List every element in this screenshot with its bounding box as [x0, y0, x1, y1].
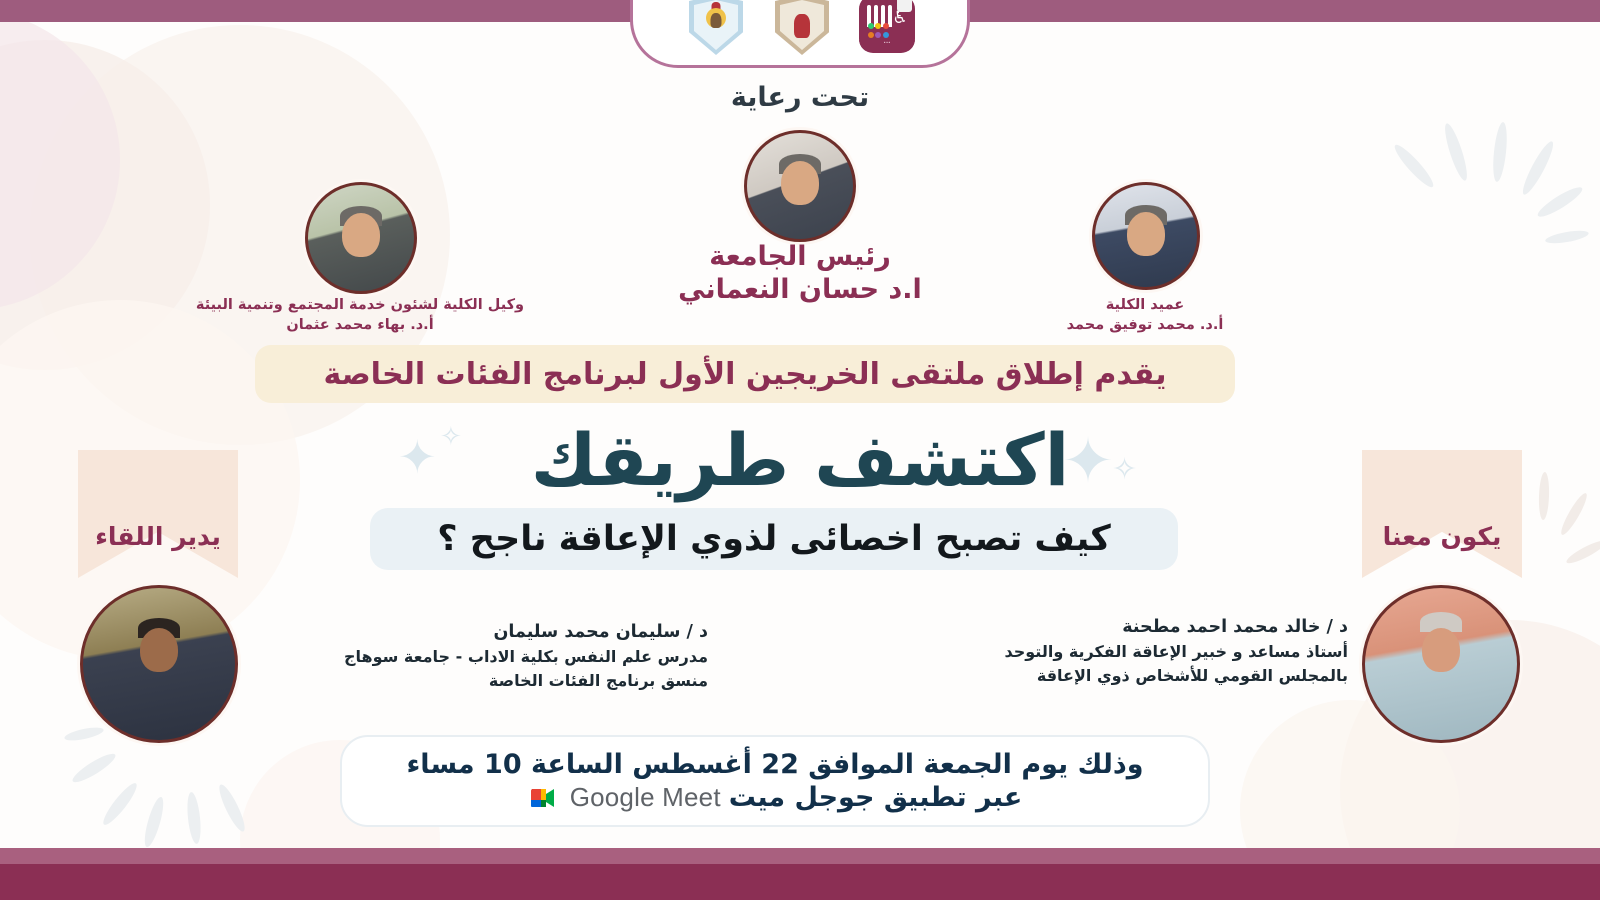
moderator-desc-1: مدرس علم النفس بكلية الاداب - جامعة سوها… [258, 645, 708, 668]
event-platform-row: عبر تطبيق جوجل ميت Google Meet [528, 782, 1023, 813]
speaker-name: د / خالد محمد احمد مطحنة [870, 615, 1348, 640]
event-details-card: وذلك يوم الجمعة الموافق 22 أغسطس الساعة … [340, 735, 1210, 827]
event-announcement-banner: يقدم إطلاق ملتقى الخريجين الأول لبرنامج … [255, 345, 1235, 403]
dean-info: عميد الكلية أ.د. محمد توفيق محمد [975, 296, 1315, 335]
sohag-governorate-emblem-icon [771, 0, 829, 53]
event-announcement-text: يقدم إطلاق ملتقى الخريجين الأول لبرنامج … [324, 357, 1167, 392]
event-platform-arabic: عبر تطبيق جوجل ميت [729, 782, 1023, 813]
page-title: اكتشف طريقك [0, 418, 1600, 502]
bottom-accent-bar-light [0, 848, 1600, 864]
university-president-title: رئيس الجامعة [0, 240, 1600, 273]
speaker-info: د / خالد محمد احمد مطحنة أستاذ مساعد و خ… [870, 615, 1348, 687]
event-poster: ♿ ••• تحت رعاية رئيس الجامعة ا.د حسان ال… [0, 0, 1600, 900]
speaker-ribbon [1362, 450, 1522, 578]
patronage-label: تحت رعاية [0, 82, 1600, 113]
google-meet-wordmark: Google Meet [570, 782, 721, 813]
avatar-moderator [80, 585, 238, 743]
page-subtitle: كيف تصبح اخصائى لذوي الإعاقة ناجح ؟ [437, 519, 1110, 559]
dean-name: أ.د. محمد توفيق محمد [975, 316, 1315, 336]
moderator-ribbon-label: يدير اللقاء [48, 522, 268, 551]
dean-position: عميد الكلية [975, 296, 1315, 316]
avatar-university-president [744, 130, 856, 242]
moderator-ribbon [78, 450, 238, 578]
subtitle-container: كيف تصبح اخصائى لذوي الإعاقة ناجح ؟ [370, 508, 1178, 570]
vice-dean-name: أ.د. بهاء محمد عثمان [190, 316, 530, 336]
vice-dean-info: وكيل الكلية لشئون خدمة المجتمع وتنمية ال… [190, 296, 530, 335]
sohag-university-emblem-icon [685, 0, 743, 53]
event-datetime: وذلك يوم الجمعة الموافق 22 أغسطس الساعة … [407, 749, 1144, 780]
speaker-ribbon-label: يكون معنا [1332, 522, 1552, 551]
avatar-speaker [1362, 585, 1520, 743]
avatar-dean [1092, 182, 1200, 290]
speaker-desc-2: بالمجلس القومي للأشخاص ذوي الإعاقة [870, 664, 1348, 687]
special-needs-hand-logo-icon: ♿ ••• [857, 0, 915, 53]
avatar-vice-dean [305, 182, 417, 294]
speaker-desc-1: أستاذ مساعد و خبير الإعاقة الفكرية والتو… [870, 640, 1348, 663]
bottom-accent-bar-dark [0, 864, 1600, 900]
moderator-desc-2: منسق برنامج الفئات الخاصة [258, 669, 708, 692]
logo-container: ♿ ••• [630, 0, 970, 68]
google-meet-icon [528, 785, 562, 811]
moderator-name: د / سليمان محمد سليمان [258, 620, 708, 645]
moderator-info: د / سليمان محمد سليمان مدرس علم النفس بك… [258, 620, 708, 692]
vice-dean-position: وكيل الكلية لشئون خدمة المجتمع وتنمية ال… [190, 296, 530, 316]
